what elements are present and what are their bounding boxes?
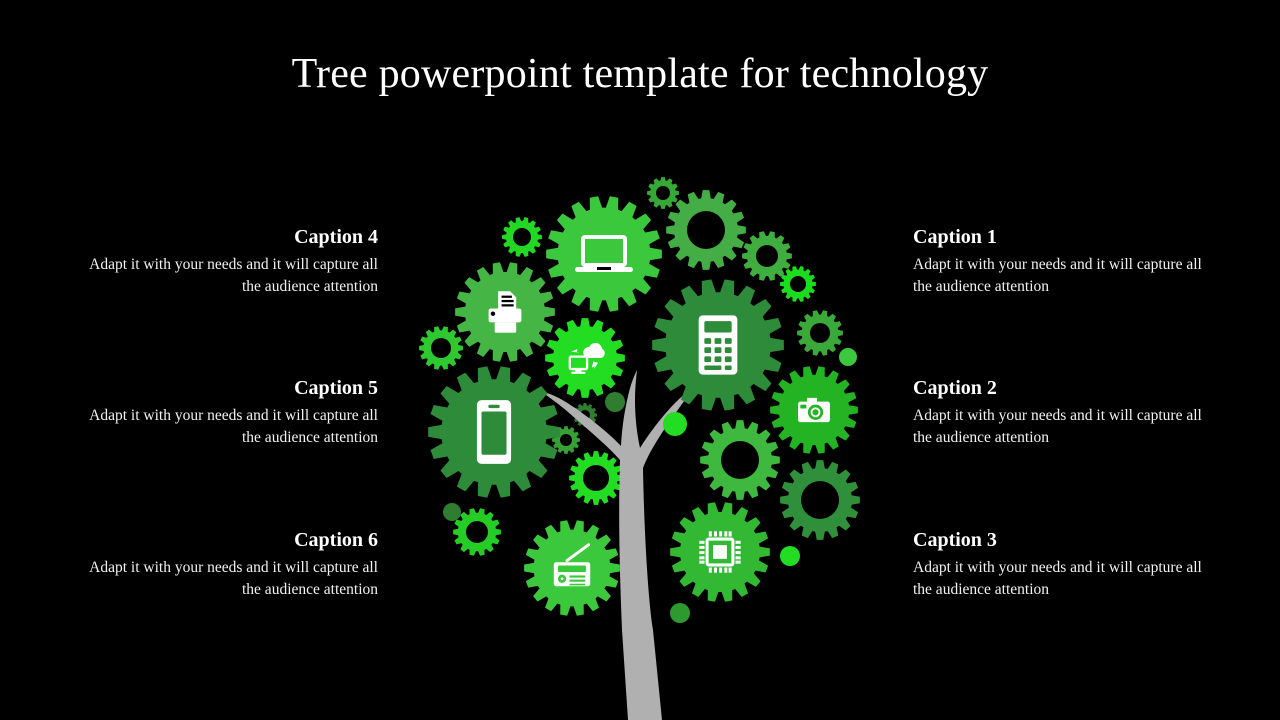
dot-right-upper bbox=[839, 348, 857, 366]
caption-body: Adapt it with your needs and it will cap… bbox=[78, 557, 378, 602]
cloud-gear bbox=[545, 318, 625, 398]
caption-block-3: Caption 3 Adapt it with your needs and i… bbox=[913, 529, 1213, 602]
gear-hub-hole bbox=[513, 228, 531, 246]
gear-hub-hole bbox=[583, 465, 609, 491]
slide-canvas: Tree powerpoint template for technology … bbox=[0, 0, 1280, 720]
gear-right-bright bbox=[780, 266, 816, 302]
smartphone-icon bbox=[477, 400, 511, 464]
gear-hub-hole bbox=[656, 186, 670, 200]
caption-title: Caption 3 bbox=[913, 529, 1213, 551]
gear-body bbox=[545, 318, 625, 398]
gear-hub-hole bbox=[687, 211, 725, 249]
caption-title: Caption 4 bbox=[78, 226, 378, 248]
gear-hub-hole bbox=[756, 245, 778, 267]
calculator-icon bbox=[699, 315, 738, 374]
laptop-gear bbox=[546, 196, 662, 311]
calculator-gear bbox=[652, 279, 784, 410]
caption-body: Adapt it with your needs and it will cap… bbox=[913, 254, 1213, 299]
gear-upper-right bbox=[666, 190, 746, 270]
gear-tree-graphic bbox=[400, 160, 890, 720]
caption-body: Adapt it with your needs and it will cap… bbox=[78, 254, 378, 299]
caption-title: Caption 5 bbox=[78, 377, 378, 399]
radio-gear bbox=[524, 520, 620, 616]
caption-title: Caption 1 bbox=[913, 226, 1213, 248]
caption-title: Caption 2 bbox=[913, 377, 1213, 399]
caption-body: Adapt it with your needs and it will cap… bbox=[913, 557, 1213, 602]
caption-body: Adapt it with your needs and it will cap… bbox=[913, 405, 1213, 450]
gear-hub-hole bbox=[790, 276, 806, 292]
microchip-gear bbox=[670, 502, 770, 601]
smartphone-gear bbox=[428, 366, 560, 497]
camera-gear bbox=[770, 366, 858, 454]
gear-right-a bbox=[742, 231, 792, 281]
gear-hub-hole bbox=[721, 441, 759, 479]
caption-block-5: Caption 5 Adapt it with your needs and i… bbox=[78, 377, 378, 450]
printer-gear bbox=[455, 262, 555, 361]
gear-right-b bbox=[797, 310, 843, 356]
caption-title: Caption 6 bbox=[78, 529, 378, 551]
dot-left-low bbox=[443, 503, 461, 521]
gear-body bbox=[546, 196, 662, 311]
dot-trunk bbox=[663, 412, 687, 436]
gear-upper-left bbox=[502, 217, 542, 257]
caption-block-2: Caption 2 Adapt it with your needs and i… bbox=[913, 377, 1213, 450]
page-title: Tree powerpoint template for technology bbox=[0, 50, 1280, 98]
caption-block-4: Caption 4 Adapt it with your needs and i… bbox=[78, 226, 378, 299]
caption-body: Adapt it with your needs and it will cap… bbox=[78, 405, 378, 450]
gear-top-small bbox=[647, 177, 679, 209]
gear-right-d bbox=[780, 460, 860, 540]
gear-inner-left bbox=[569, 451, 623, 505]
gear-hub-hole bbox=[466, 521, 488, 543]
dot-right-low bbox=[780, 546, 800, 566]
gear-hub-hole bbox=[431, 338, 451, 358]
gear-hub-hole bbox=[801, 481, 839, 519]
gear-left-far bbox=[419, 326, 463, 370]
caption-block-6: Caption 6 Adapt it with your needs and i… bbox=[78, 529, 378, 602]
gear-hub-hole bbox=[810, 323, 830, 343]
caption-block-1: Caption 1 Adapt it with your needs and i… bbox=[913, 226, 1213, 299]
gear-right-c bbox=[700, 420, 780, 500]
gear-hub-hole bbox=[560, 434, 572, 446]
dot-bottom bbox=[670, 603, 690, 623]
dot-center bbox=[605, 392, 625, 412]
